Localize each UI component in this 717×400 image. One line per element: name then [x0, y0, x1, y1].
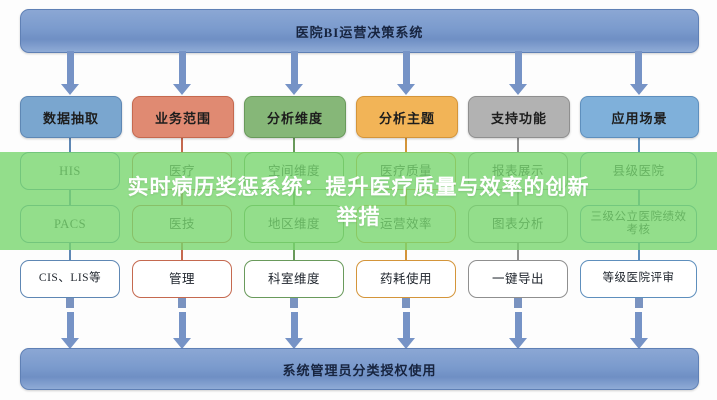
column-header-4[interactable]: 分析主题 — [356, 96, 458, 138]
connector-col-6-row-1 — [638, 136, 640, 152]
node-label: 药耗使用 — [380, 272, 432, 286]
node-label: 等级医院评审 — [603, 272, 675, 285]
bottom-arrow-stem-col-4 — [403, 312, 410, 338]
node-label: CIS、LIS等 — [39, 272, 101, 285]
bottom-arrow-stem-col-3 — [291, 312, 298, 338]
arrow-head-col-4 — [397, 84, 415, 95]
connector-col-4-row-1 — [405, 136, 407, 152]
column-header-label: 支持功能 — [491, 108, 547, 127]
top-banner-label: 医院BI运营决策系统 — [296, 22, 424, 41]
node-label: 一键导出 — [492, 272, 544, 286]
bottom-arrow-stem-col-6 — [635, 312, 642, 338]
column-header-3[interactable]: 分析维度 — [244, 96, 346, 138]
arrow-head-col-6 — [630, 84, 648, 95]
node-label: 科室维度 — [268, 272, 320, 286]
column-header-label: 分析维度 — [267, 108, 323, 127]
column-header-5[interactable]: 支持功能 — [468, 96, 570, 138]
connector-col-5-row-1 — [517, 136, 519, 152]
bottom-arrow-stem-col-1 — [67, 312, 74, 338]
node-col-3-row-3[interactable]: 科室维度 — [244, 260, 344, 298]
stub-col-2 — [178, 298, 186, 308]
bottom-banner-label: 系统管理员分类授权使用 — [282, 360, 436, 379]
arrow-stem-col-6 — [635, 51, 642, 84]
arrow-stem-col-3 — [291, 51, 298, 84]
column-header-label: 数据抽取 — [43, 108, 99, 127]
connector-col-1-row-1 — [69, 136, 71, 152]
node-col-2-row-3[interactable]: 管理 — [132, 260, 232, 298]
arrow-stem-col-4 — [403, 51, 410, 84]
bi-architecture-diagram: 医院BI运营决策系统 数据抽取业务范围分析维度分析主题支持功能应用场景 HISP… — [0, 0, 717, 400]
promo-overlay-line1: 实时病历奖惩系统：提升医疗质量与效率的创新 — [128, 171, 590, 201]
connector-col-3-row-1 — [293, 136, 295, 152]
node-col-5-row-3[interactable]: 一键导出 — [468, 260, 568, 298]
connector-col-2-row-1 — [181, 136, 183, 152]
column-header-label: 业务范围 — [155, 108, 211, 127]
column-header-2[interactable]: 业务范围 — [132, 96, 234, 138]
arrow-head-col-2 — [173, 84, 191, 95]
arrow-head-col-1 — [61, 84, 79, 95]
arrow-stem-col-1 — [67, 51, 74, 84]
stub-col-5 — [514, 298, 522, 308]
arrow-head-col-5 — [509, 84, 527, 95]
bottom-arrow-stem-col-5 — [515, 312, 522, 338]
arrow-stem-col-2 — [179, 51, 186, 84]
node-col-6-row-3[interactable]: 等级医院评审 — [580, 260, 697, 298]
stub-col-6 — [635, 298, 643, 308]
node-label: 管理 — [169, 272, 195, 286]
column-header-label: 应用场景 — [611, 108, 667, 127]
stub-col-4 — [402, 298, 410, 308]
promo-overlay: 实时病历奖惩系统：提升医疗质量与效率的创新 举措 — [0, 152, 717, 250]
stub-col-1 — [66, 298, 74, 308]
arrow-stem-col-5 — [515, 51, 522, 84]
column-header-6[interactable]: 应用场景 — [580, 96, 699, 138]
column-header-label: 分析主题 — [379, 108, 435, 127]
bottom-banner: 系统管理员分类授权使用 — [20, 348, 699, 390]
node-col-1-row-3[interactable]: CIS、LIS等 — [20, 260, 120, 298]
top-banner: 医院BI运营决策系统 — [20, 9, 699, 53]
column-header-1[interactable]: 数据抽取 — [20, 96, 122, 138]
promo-overlay-line2: 举措 — [337, 201, 381, 231]
arrow-head-col-3 — [285, 84, 303, 95]
bottom-arrow-stem-col-2 — [179, 312, 186, 338]
stub-col-3 — [290, 298, 298, 308]
node-col-4-row-3[interactable]: 药耗使用 — [356, 260, 456, 298]
